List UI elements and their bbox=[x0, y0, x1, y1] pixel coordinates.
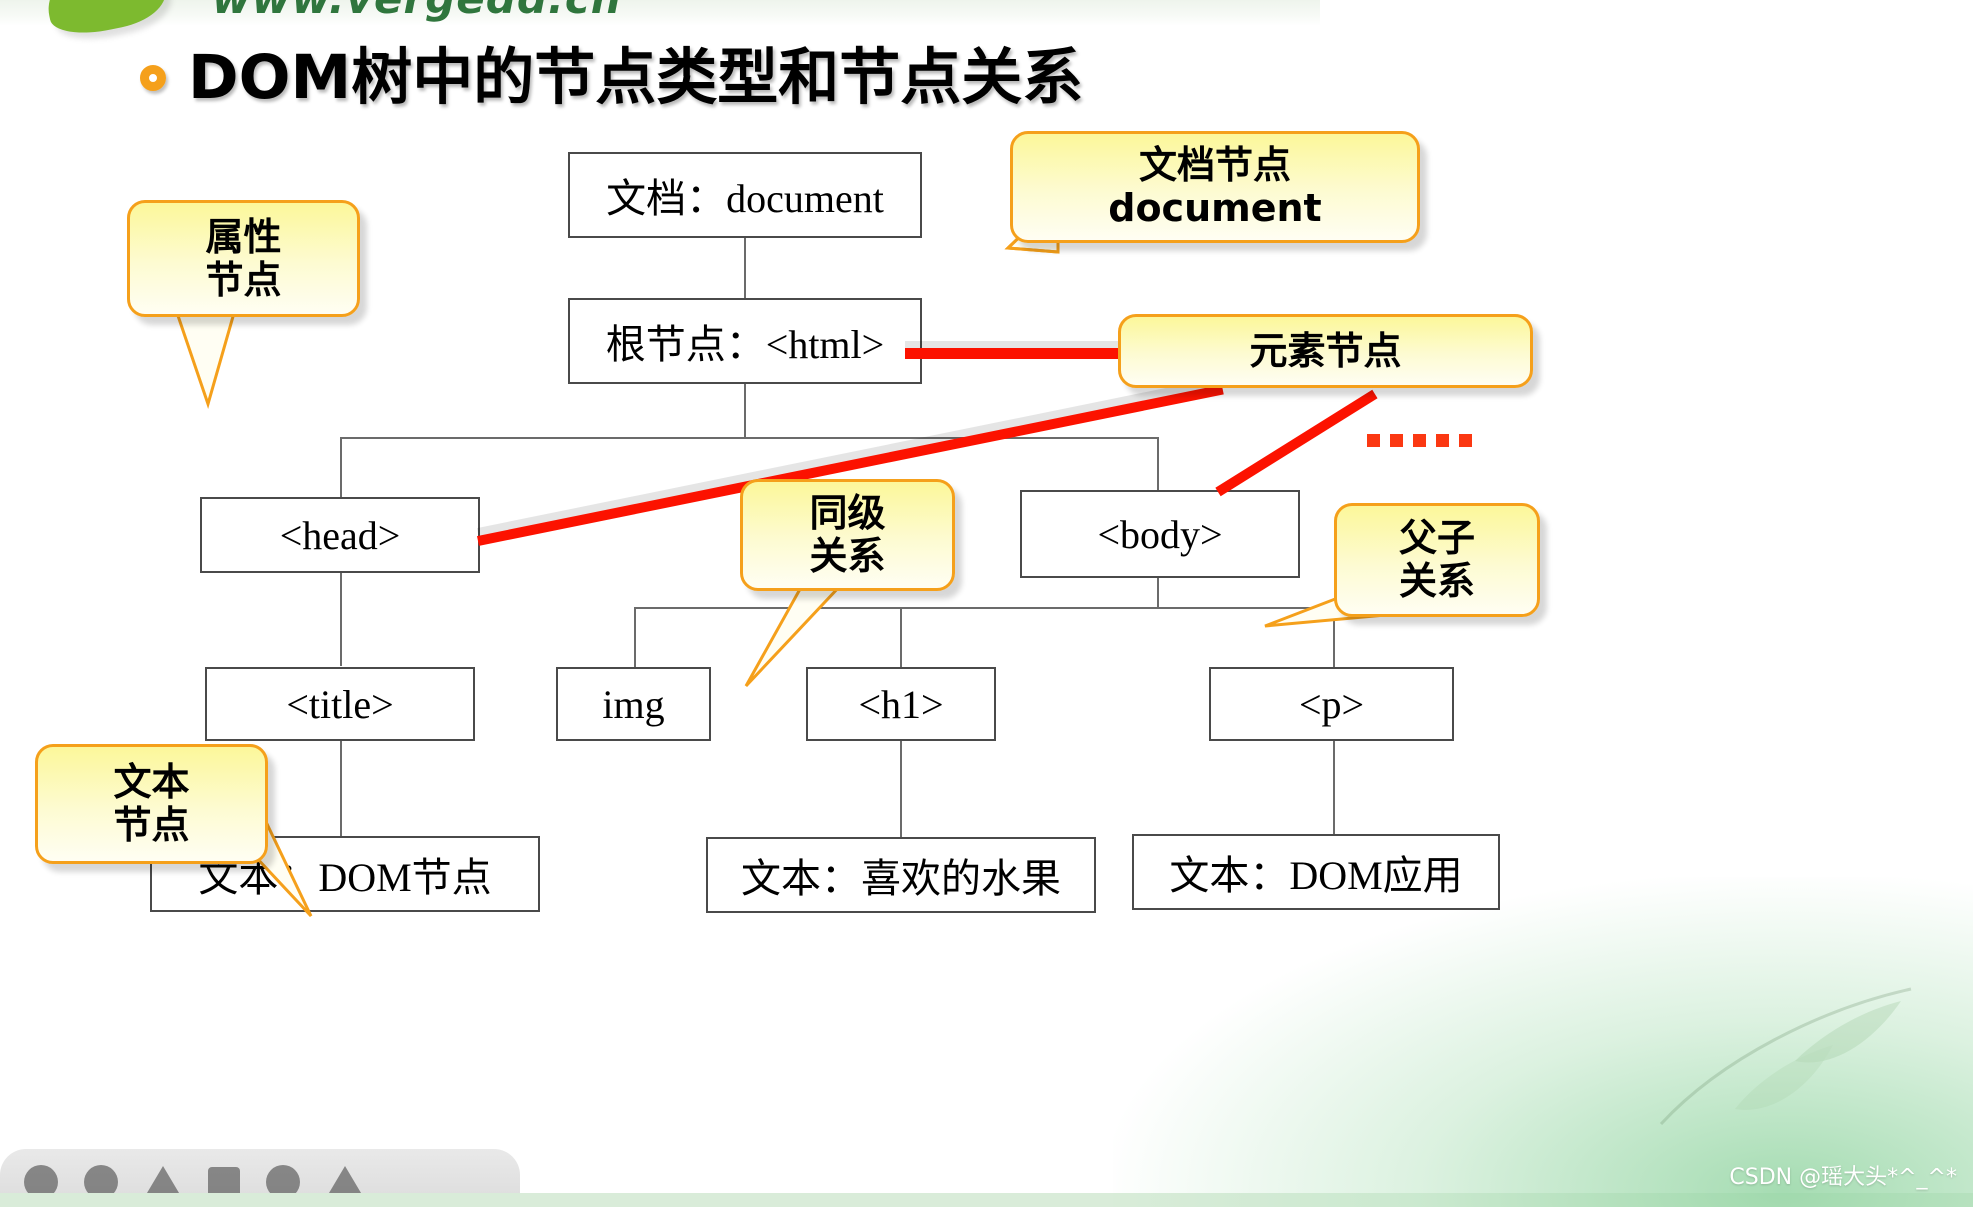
node-document[interactable]: 文档：document bbox=[568, 152, 922, 238]
node-body[interactable]: <body> bbox=[1020, 490, 1300, 578]
node-html[interactable]: 根节点：<html> bbox=[568, 298, 922, 384]
callout-document-node-line1: 文档节点 bbox=[1139, 144, 1291, 187]
page-title-text: DOM树中的节点类型和节点关系 bbox=[188, 47, 1083, 108]
ellipsis-dot bbox=[1390, 434, 1403, 447]
leaf-decoration-icon bbox=[1571, 949, 1931, 1149]
callout-attribute-node[interactable]: 属性 节点 bbox=[127, 200, 360, 317]
callout-parent-child-relation[interactable]: 父子 关系 bbox=[1334, 503, 1540, 617]
bottom-strip bbox=[0, 1193, 1973, 1207]
callout-sibling-relation-line1: 同级 bbox=[809, 492, 885, 535]
bullet-icon bbox=[140, 65, 166, 91]
node-p[interactable]: <p> bbox=[1209, 667, 1454, 741]
callout-document-node[interactable]: 文档节点 document bbox=[1010, 131, 1420, 243]
callout-parent-child-line2: 关系 bbox=[1399, 560, 1475, 603]
edge-bus-to-head bbox=[340, 437, 342, 497]
edge-html-down bbox=[744, 384, 746, 438]
ellipsis-dots bbox=[1367, 434, 1472, 447]
node-text-dom-app[interactable]: 文本：DOM应用 bbox=[1132, 834, 1500, 910]
callout-sibling-relation-line2: 关系 bbox=[809, 535, 885, 578]
watermark: CSDN @瑶大头*^_^* bbox=[1729, 1159, 1957, 1191]
ellipsis-dot bbox=[1459, 434, 1472, 447]
element-node-line-3 bbox=[1215, 390, 1377, 497]
callout-attribute-node-line2: 节点 bbox=[205, 259, 281, 302]
callout-document-node-line2: document bbox=[1108, 187, 1321, 230]
callout-text-node-line1: 文本 bbox=[113, 761, 189, 804]
callout-text-node[interactable]: 文本 节点 bbox=[35, 744, 268, 864]
ellipsis-dot bbox=[1436, 434, 1449, 447]
node-text-favorite-fruit[interactable]: 文本：喜欢的水果 bbox=[706, 837, 1096, 913]
edge-document-html bbox=[744, 238, 746, 298]
edge-h1-text2 bbox=[900, 741, 902, 837]
callout-element-node[interactable]: 元素节点 bbox=[1118, 314, 1533, 388]
ellipsis-dot bbox=[1413, 434, 1426, 447]
header-band bbox=[0, 0, 1320, 26]
callout-element-node-line1: 元素节点 bbox=[1249, 330, 1401, 373]
callout-sibling-relation[interactable]: 同级 关系 bbox=[740, 479, 955, 591]
node-head[interactable]: <head> bbox=[200, 497, 480, 573]
site-url: www.vergedd.cn bbox=[212, 0, 622, 23]
node-img[interactable]: img bbox=[556, 667, 711, 741]
edge-bus-head-body bbox=[340, 437, 1158, 439]
edge-p-text3 bbox=[1333, 741, 1335, 834]
edge-bus-to-img bbox=[634, 607, 636, 667]
page-title: DOM树中的节点类型和节点关系 bbox=[140, 47, 1083, 108]
edge-head-title bbox=[340, 573, 342, 666]
element-node-line-1 bbox=[905, 348, 1127, 359]
callout-parent-child-line1: 父子 bbox=[1399, 517, 1475, 560]
edge-bus-to-h1 bbox=[900, 607, 902, 667]
edge-body-down bbox=[1157, 578, 1159, 608]
ellipsis-dot bbox=[1367, 434, 1380, 447]
slide-canvas: www.vergedd.cn DOM树中的节点类型和节点关系 文档：doc bbox=[0, 0, 1973, 1207]
edge-bus-to-body bbox=[1157, 437, 1159, 490]
node-title[interactable]: <title> bbox=[205, 667, 475, 741]
callout-text-node-line2: 节点 bbox=[113, 804, 189, 847]
callout-attribute-node-line1: 属性 bbox=[205, 216, 281, 259]
